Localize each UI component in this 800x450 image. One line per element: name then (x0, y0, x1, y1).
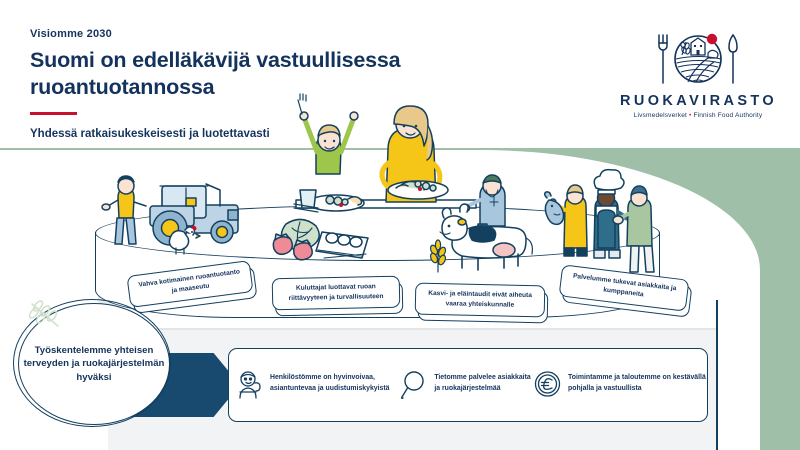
callout-plant-animal-disease[interactable]: Kasvi- ja eläintaudit eivät aiheuta vaar… (415, 283, 546, 318)
person-speaking-icon (236, 370, 263, 400)
logo-subtitle-separator: • (689, 112, 691, 119)
header-subtitle: Yhdessä ratkaisukeskeisesti ja luotettav… (30, 128, 590, 140)
value-item-knowledge-text: Tietomme palvelee asiakkaita ja ruokajär… (434, 370, 534, 394)
brand-logo: RUOKAVIRASTO Livsmedelsverket • Finnish … (620, 28, 776, 119)
value-item-knowledge[interactable]: Tietomme palvelee asiakkaita ja ruokajär… (400, 370, 534, 400)
value-item-economy-text: Toimintamme ja taloutemme on kestävällä … (568, 370, 706, 394)
wheat-decoration-icon (28, 300, 66, 332)
logo-wordmark: RUOKAVIRASTO (620, 93, 776, 109)
value-item-personnel[interactable]: Henkilöstömme on hyvinvoivaa, asiantunte… (236, 370, 400, 400)
value-item-economy[interactable]: Toimintamme ja taloutemme on kestävällä … (534, 370, 706, 400)
logo-subtitle: Livsmedelsverket • Finnish Food Authorit… (620, 112, 776, 119)
logo-subtitle-right: Finnish Food Authority (693, 112, 762, 119)
infographic-canvas: Visiomme 2030 Suomi on edelläkävijä vast… (0, 0, 800, 450)
logo-subtitle-left: Livsmedelsverket (634, 112, 687, 119)
background-navy-strip (716, 300, 718, 450)
page-title: Suomi on edelläkävijä vastuullisessa ruo… (30, 47, 590, 101)
header-kicker: Visiomme 2030 (30, 28, 590, 40)
farm-landscape-emblem-icon (620, 28, 776, 90)
mission-badge-text: Työskentelemme yhteisen terveyden ja ruo… (19, 344, 169, 385)
callout-consumer-trust[interactable]: Kuluttajat luottavat ruoan riittävyyteen… (272, 276, 401, 311)
title-divider-rule (30, 112, 77, 115)
value-item-personnel-text: Henkilöstömme on hyvinvoivaa, asiantunte… (270, 370, 400, 394)
header-block: Visiomme 2030 Suomi on edelläkävijä vast… (30, 28, 590, 140)
magnifier-icon (400, 370, 427, 400)
values-row: Henkilöstömme on hyvinvoivaa, asiantunte… (236, 352, 706, 418)
euro-coin-icon (534, 370, 561, 400)
podium-top-surface (95, 205, 660, 261)
